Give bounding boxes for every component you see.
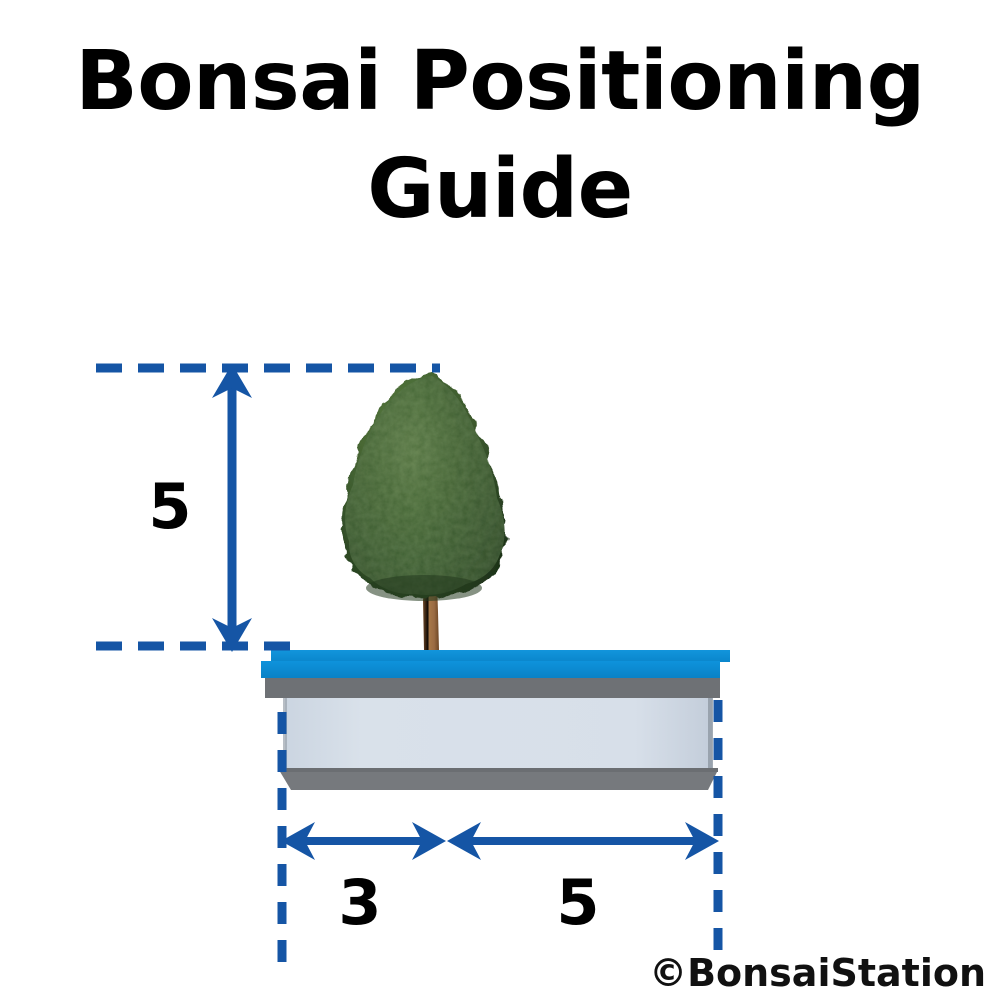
bonsai-tree-illustration xyxy=(341,372,507,650)
bonsai-pot-illustration xyxy=(261,650,730,790)
watermark: ©BonsaiStation xyxy=(649,954,986,992)
pot-rim-front-face xyxy=(261,661,720,678)
pot-upper-gray-band xyxy=(265,678,720,698)
tree-foliage-underside-shadow xyxy=(366,575,482,601)
width-dimension-label-left: 3 xyxy=(315,872,405,934)
height-dimension-label: 5 xyxy=(125,476,215,538)
tree-foliage-texture xyxy=(345,376,505,595)
width-dimension-label-right: 5 xyxy=(533,872,623,934)
pot-body-right-edge xyxy=(708,698,713,770)
diagram-canvas: Bonsai Positioning Guide xyxy=(0,0,1000,1000)
pot-base xyxy=(279,770,718,790)
pot-base-top-line xyxy=(279,768,718,772)
pot-rim-top-surface xyxy=(271,650,730,662)
pot-body xyxy=(285,698,712,770)
